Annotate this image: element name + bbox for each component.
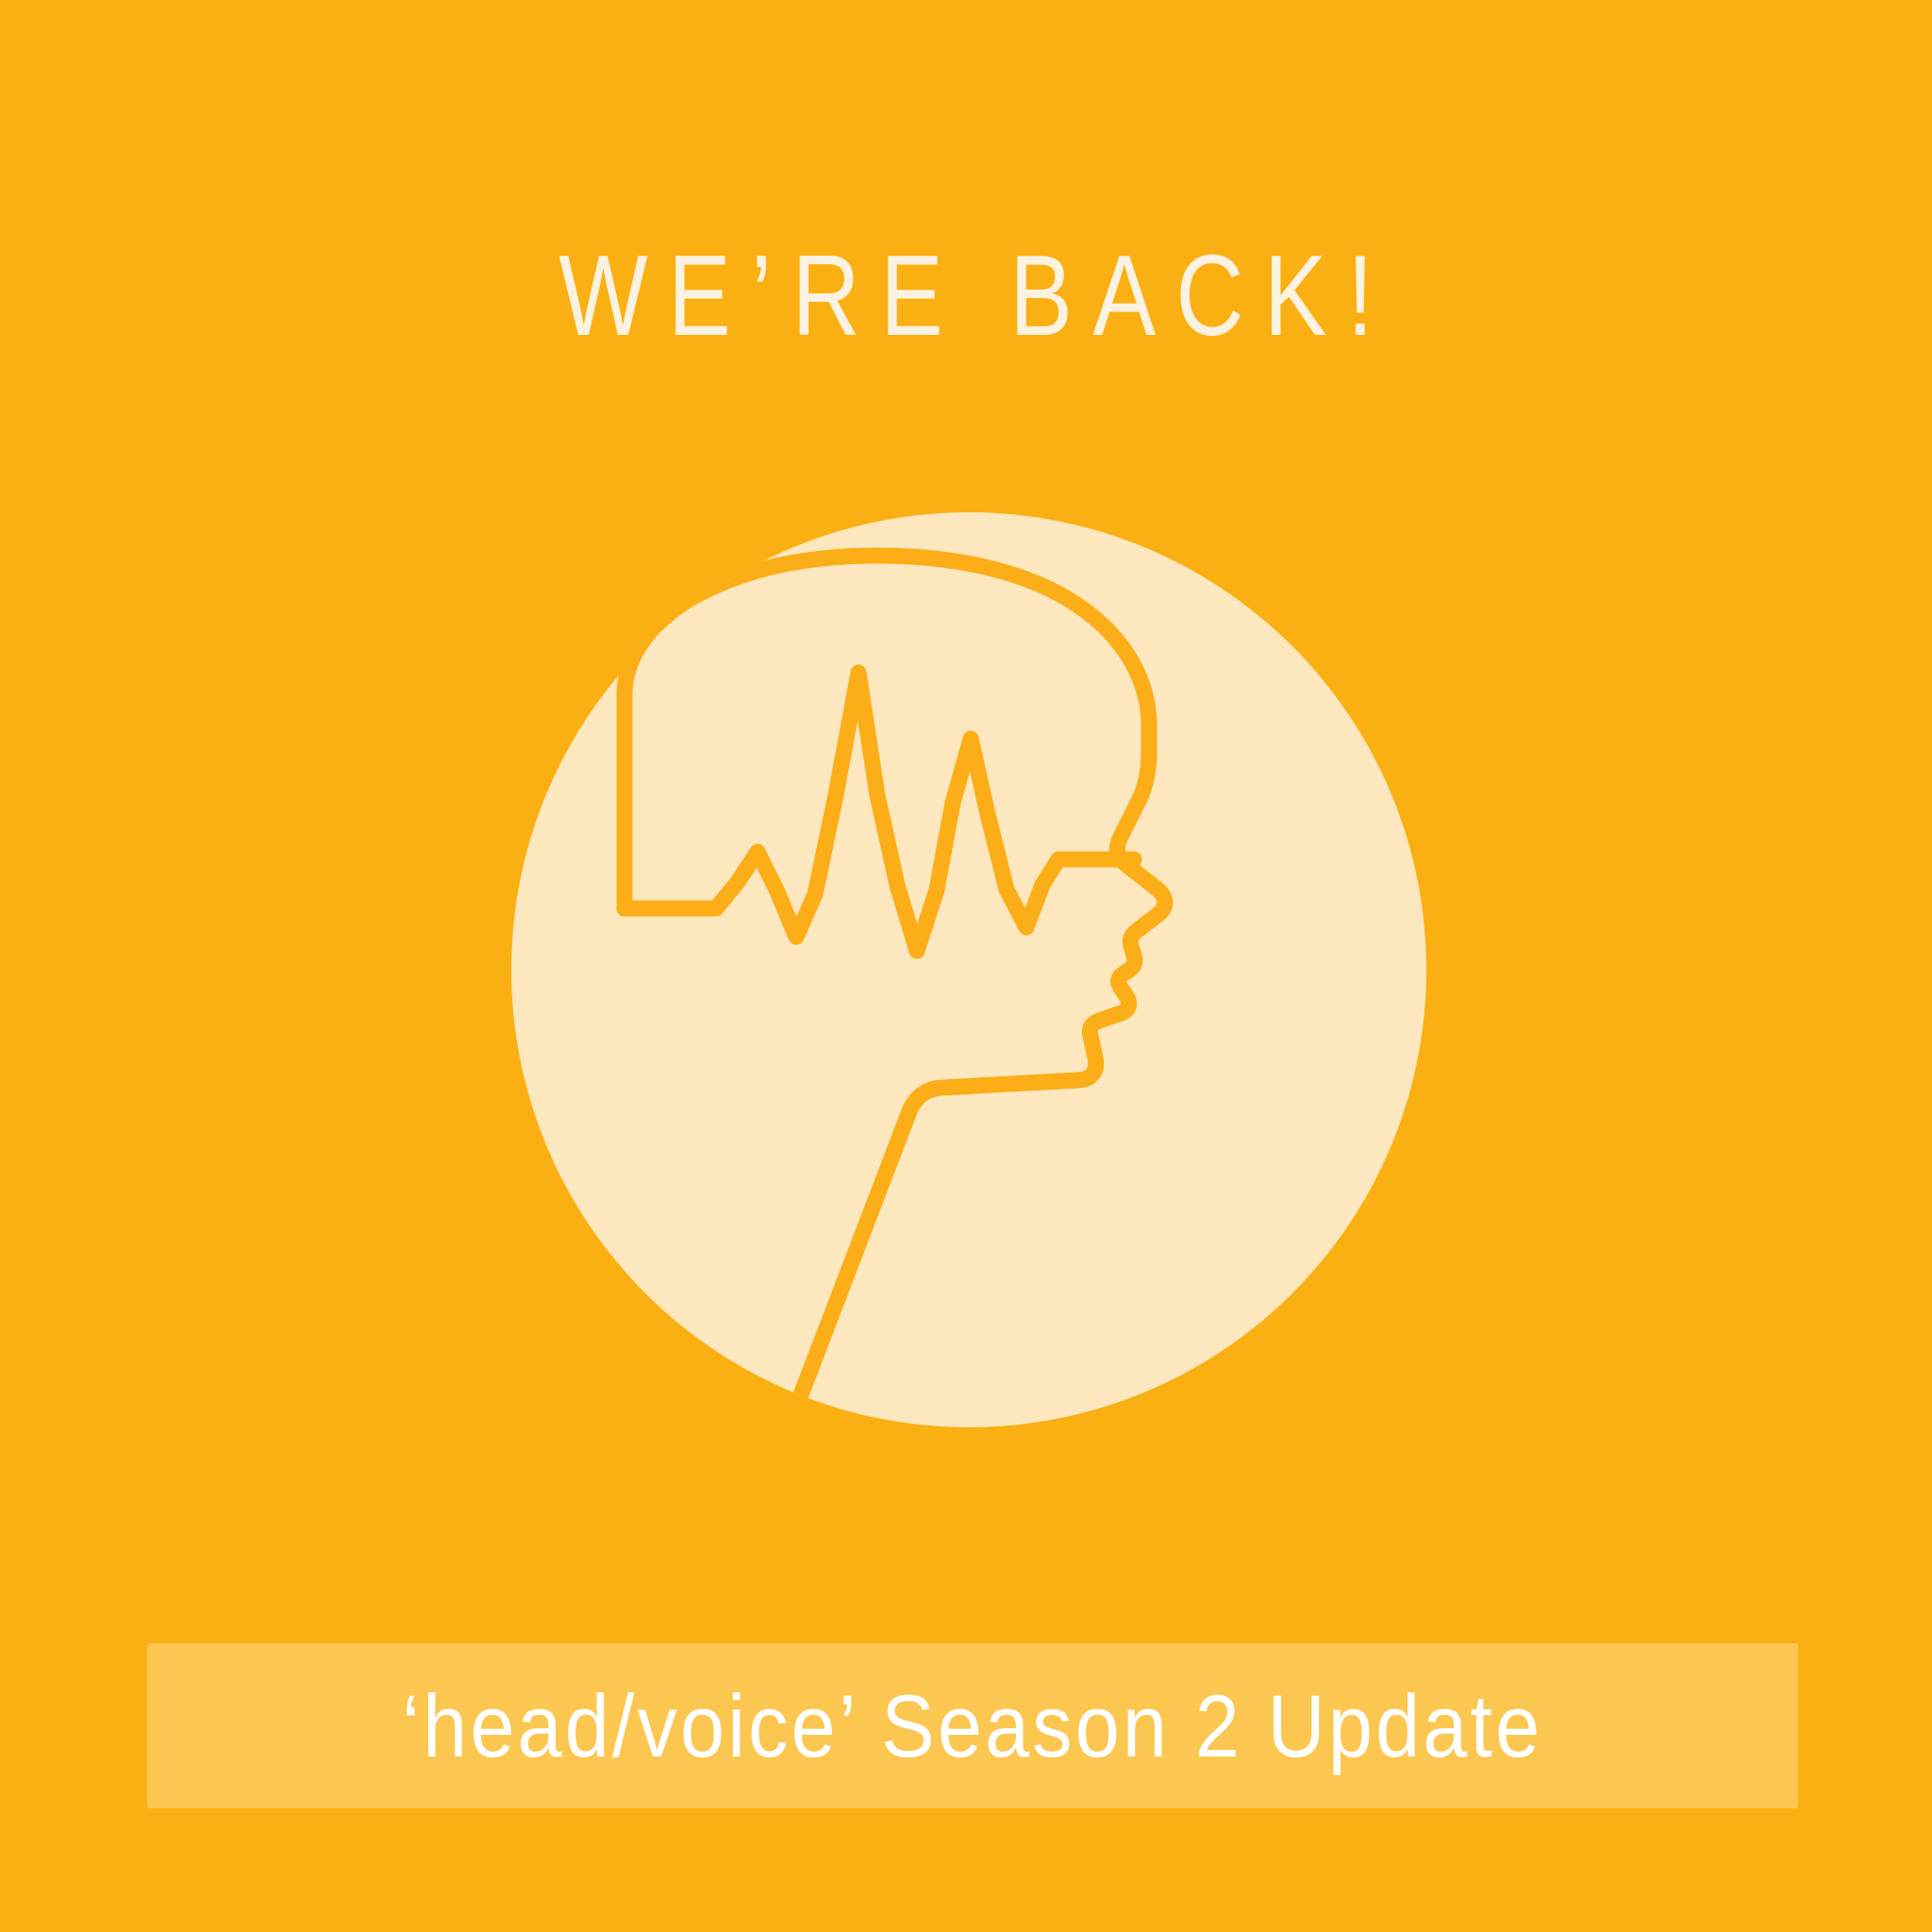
poster-canvas: WE’RE BACK! ‘head/voice’ Season 2 Update <box>0 0 1932 1932</box>
illustration-circle-background <box>511 512 1426 1427</box>
caption-text: ‘head/voice’ Season 2 Update <box>402 1682 1542 1771</box>
page-title: WE’RE BACK! <box>174 238 1757 353</box>
head-with-waveform-illustration <box>511 512 1426 1427</box>
caption-band: ‘head/voice’ Season 2 Update <box>147 1643 1798 1808</box>
